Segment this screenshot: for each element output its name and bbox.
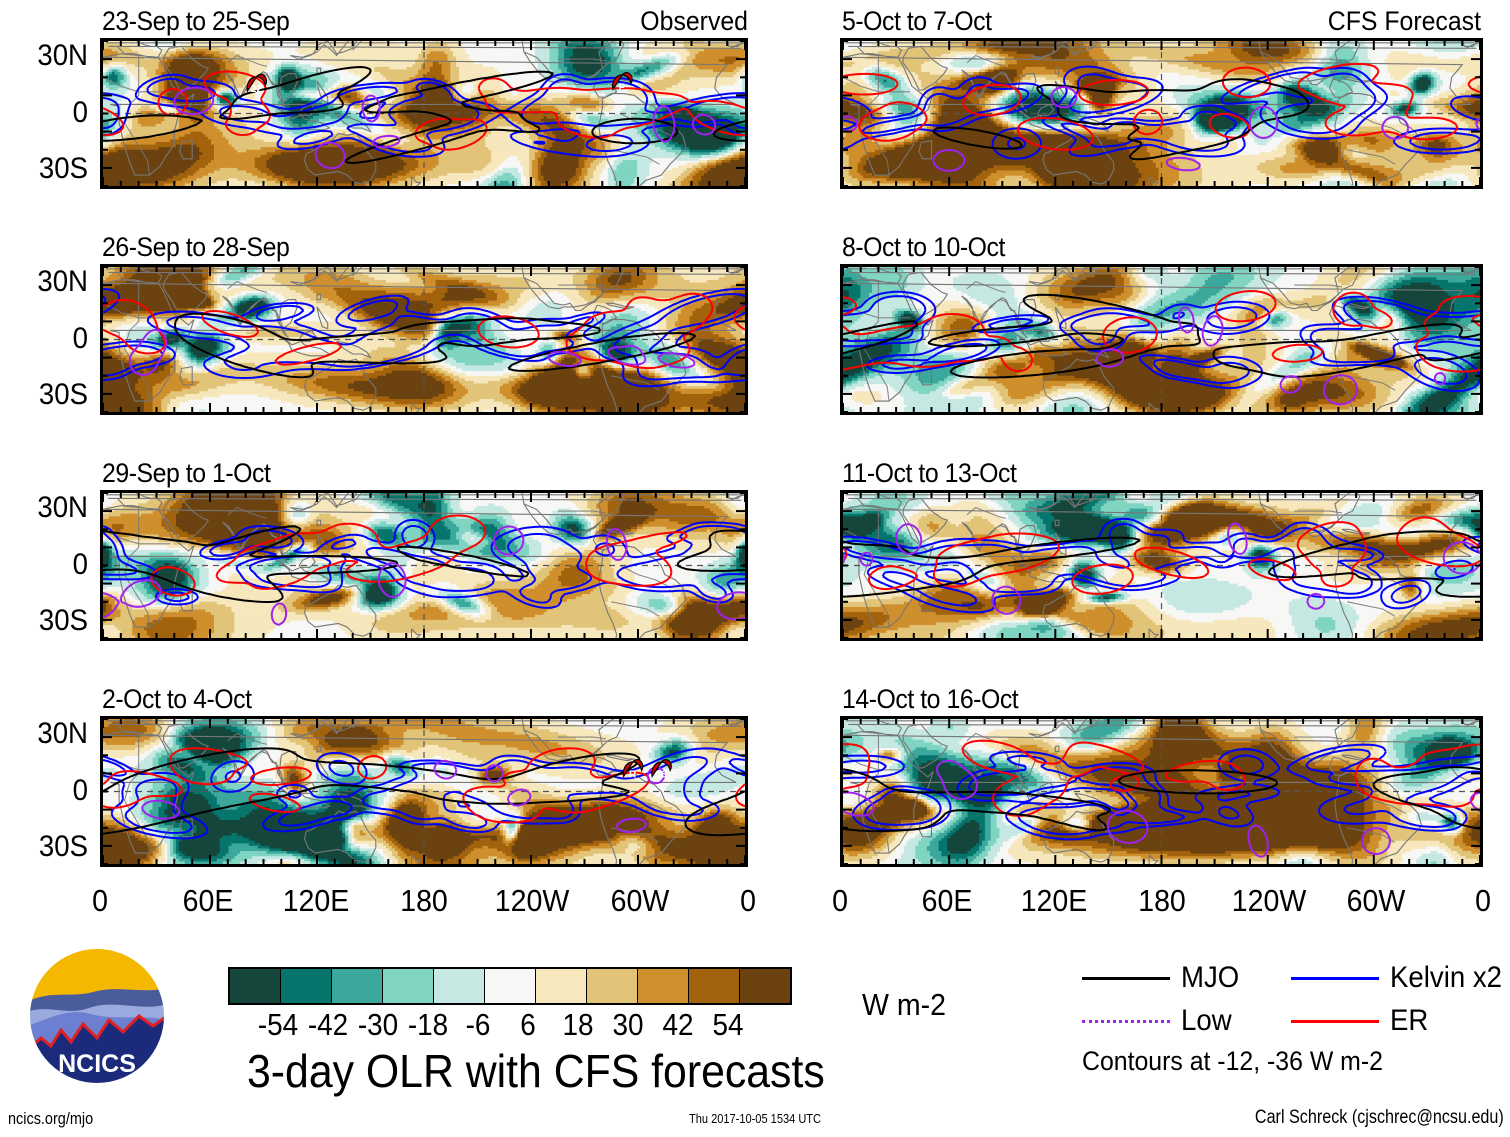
colorbar-tick-3: -18 (408, 1009, 448, 1040)
panel-title-obs-2: 26-Sep to 28-Sep (102, 234, 289, 261)
colorbar-tick-2: -30 (358, 1009, 398, 1040)
ytick-label-30N: 30N (7, 493, 88, 523)
xtick-label-right-4: 120W (1231, 885, 1306, 916)
colorbar-tick-5: 6 (520, 1009, 536, 1040)
colorbar-tick-1: -42 (308, 1009, 348, 1040)
xtick-label-left-4: 120W (495, 885, 570, 916)
xtick-label-left-0: 0 (92, 885, 108, 916)
xtick-label-right-5: 60W (1347, 885, 1406, 916)
xtick-label-right-2: 120E (1021, 885, 1088, 916)
ytick-label-0: 0 (7, 550, 88, 580)
footer-author: Carl Schreck (cjschrec@ncsu.edu) (1255, 1108, 1504, 1127)
legend-item-er: ER (1291, 1006, 1432, 1036)
ytick-label-0: 0 (7, 98, 88, 128)
panel-title-obs-4: 2-Oct to 4-Oct (102, 686, 252, 713)
colorbar-cell-3 (382, 969, 433, 1003)
map-panel-cfs-4[interactable] (840, 716, 1483, 867)
figure-title: 3-day OLR with CFS forecasts (247, 1048, 825, 1094)
legend-swatch-kelvin (1291, 977, 1379, 980)
colorbar-cell-4 (433, 969, 484, 1003)
footer-timestamp: Thu 2017-10-05 1534 UTC (689, 1112, 821, 1125)
xtick-label-left-1: 60E (183, 885, 234, 916)
legend-swatch-er (1291, 1020, 1379, 1023)
ytick-label-0: 0 (7, 324, 88, 354)
colorbar-cell-1 (280, 969, 331, 1003)
svg-text:P: P (619, 82, 626, 93)
ncics-logo: NCICS (27, 946, 167, 1091)
colorbar-tick-8: 42 (662, 1009, 693, 1040)
xtick-label-left-5: 60W (611, 885, 670, 916)
legend-swatch-mjo (1082, 977, 1170, 980)
xtick-label-left-6: 0 (740, 885, 756, 916)
xtick-label-right-1: 60E (922, 885, 973, 916)
colorbar-tick-4: -6 (466, 1009, 491, 1040)
colorbar-cell-10 (739, 969, 790, 1003)
svg-text:22: 22 (251, 84, 263, 95)
colorbar-cell-0 (230, 969, 280, 1003)
ytick-label-30S: 30S (7, 606, 88, 636)
legend-swatch-low (1082, 1020, 1170, 1023)
xtick-label-right-3: 180 (1138, 885, 1186, 916)
ytick-label-30S: 30S (7, 154, 88, 184)
ncics-logo-graphic: NCICS (27, 946, 167, 1086)
legend-label-low: Low (1181, 1006, 1232, 1036)
logo-wordmark: NCICS (58, 1050, 136, 1078)
colorbar-cell-6 (535, 969, 586, 1003)
colorbar-cell-8 (637, 969, 688, 1003)
ytick-label-30S: 30S (7, 380, 88, 410)
xtick-label-right-6: 0 (1475, 885, 1491, 916)
colorbar-tick-0: -54 (258, 1009, 298, 1040)
colorbar-tick-7: 30 (612, 1009, 643, 1040)
colorbar-unit-label: W m-2 (862, 989, 946, 1020)
legend-contour-note: Contours at -12, -36 W m-2 (1082, 1048, 1383, 1075)
map-panel-obs-2[interactable] (100, 264, 748, 415)
ytick-label-30N: 30N (7, 41, 88, 71)
colorbar-cell-2 (331, 969, 382, 1003)
legend-label-er: ER (1390, 1006, 1428, 1036)
legend-label-mjo: MJO (1181, 963, 1239, 993)
colorbar (228, 967, 792, 1005)
map-panel-obs-4[interactable]: R16 (100, 716, 748, 867)
panel-title-obs-1: 23-Sep to 25-Sep (102, 8, 289, 35)
map-panel-cfs-1[interactable] (840, 38, 1483, 189)
colorbar-tick-9: 54 (712, 1009, 743, 1040)
panel-title-obs-3: 29-Sep to 1-Oct (102, 460, 270, 487)
ytick-label-30N: 30N (7, 719, 88, 749)
map-panel-obs-1[interactable]: 22P (100, 38, 748, 189)
column-header-observed: Observed (640, 8, 748, 35)
legend-item-mjo: MJO (1082, 963, 1244, 993)
colorbar-cell-9 (688, 969, 739, 1003)
panel-title-cfs-1: 5-Oct to 7-Oct (842, 8, 992, 35)
footer-left-link[interactable]: ncics.org/mjo (8, 1110, 93, 1127)
xtick-label-right-0: 0 (832, 885, 848, 916)
panel-title-cfs-4: 14-Oct to 16-Oct (842, 686, 1018, 713)
ytick-label-30N: 30N (7, 267, 88, 297)
column-header-cfs-forecast: CFS Forecast (1328, 8, 1481, 35)
map-panel-cfs-2[interactable] (840, 264, 1483, 415)
map-panel-cfs-3[interactable] (840, 490, 1483, 641)
colorbar-tick-6: 18 (562, 1009, 593, 1040)
legend-label-kelvin: Kelvin x2 (1390, 963, 1502, 993)
panel-title-cfs-2: 8-Oct to 10-Oct (842, 234, 1005, 261)
legend-item-kelvin: Kelvin x2 (1291, 963, 1510, 993)
map-panel-obs-3[interactable] (100, 490, 748, 641)
ytick-label-0: 0 (7, 776, 88, 806)
xtick-label-left-3: 180 (400, 885, 448, 916)
xtick-label-left-2: 120E (283, 885, 350, 916)
panel-title-cfs-3: 11-Oct to 13-Oct (842, 460, 1016, 487)
colorbar-cell-5 (484, 969, 535, 1003)
ytick-label-30S: 30S (7, 832, 88, 862)
colorbar-cell-7 (586, 969, 637, 1003)
legend-item-low: Low (1082, 1006, 1236, 1036)
